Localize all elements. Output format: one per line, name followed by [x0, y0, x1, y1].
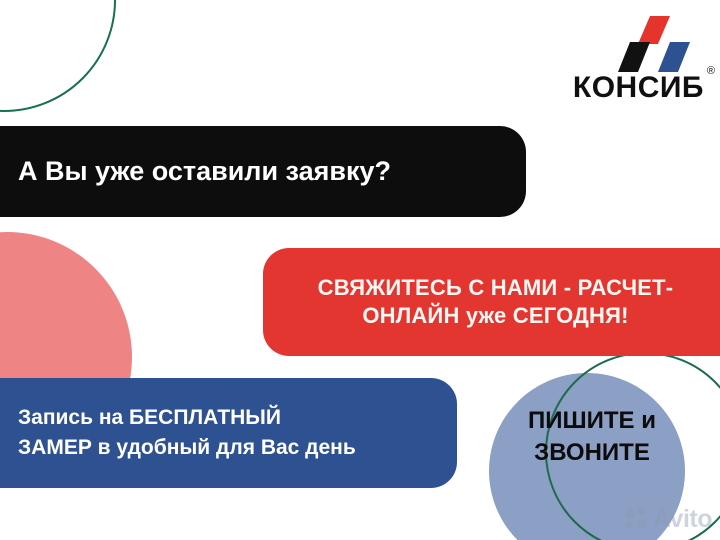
call-to-action-text: ПИШИТЕ и ЗВОНИТЕ: [487, 405, 697, 468]
blue-offer-line-2: ЗАМЕР в удобный для Вас день: [18, 433, 356, 463]
brand-logo: КОНСИБ ®: [576, 16, 706, 108]
call-to-action-line-2: ЗВОНИТЕ: [487, 437, 697, 469]
blue-offer-banner: Запись на БЕСПЛАТНЫЙ ЗАМЕР в удобный для…: [0, 378, 457, 488]
registered-trademark-icon: ®: [707, 66, 715, 77]
avito-watermark-text: Avito: [653, 507, 712, 532]
avito-watermark: Avito: [625, 504, 712, 534]
blue-offer-text: Запись на БЕСПЛАТНЫЙ ЗАМЕР в удобный для…: [18, 403, 356, 464]
red-offer-line-2: ОНЛАЙН уже СЕГОДНЯ!: [318, 302, 674, 330]
red-offer-line-1: СВЯЖИТЕСЬ С НАМИ - РАСЧЕТ-: [318, 274, 674, 302]
decorative-green-circle-outline-top-left: [0, 0, 116, 112]
avito-dots-icon: [625, 507, 651, 531]
red-offer-banner: СВЯЖИТЕСЬ С НАМИ - РАСЧЕТ- ОНЛАЙН уже СЕ…: [263, 248, 720, 356]
call-to-action-line-1: ПИШИТЕ и: [487, 405, 697, 437]
headline-banner: А Вы уже оставили заявку?: [0, 126, 526, 217]
blue-offer-line-1: Запись на БЕСПЛАТНЫЙ: [18, 403, 356, 433]
promo-banner: КОНСИБ ® А Вы уже оставили заявку? СВЯЖИ…: [0, 0, 720, 540]
brand-wordmark: КОНСИБ: [573, 73, 704, 103]
headline-text: А Вы уже оставили заявку?: [18, 157, 391, 187]
red-offer-text: СВЯЖИТЕСЬ С НАМИ - РАСЧЕТ- ОНЛАЙН уже СЕ…: [318, 274, 674, 330]
three-parallelograms-logo-icon: [618, 16, 690, 72]
